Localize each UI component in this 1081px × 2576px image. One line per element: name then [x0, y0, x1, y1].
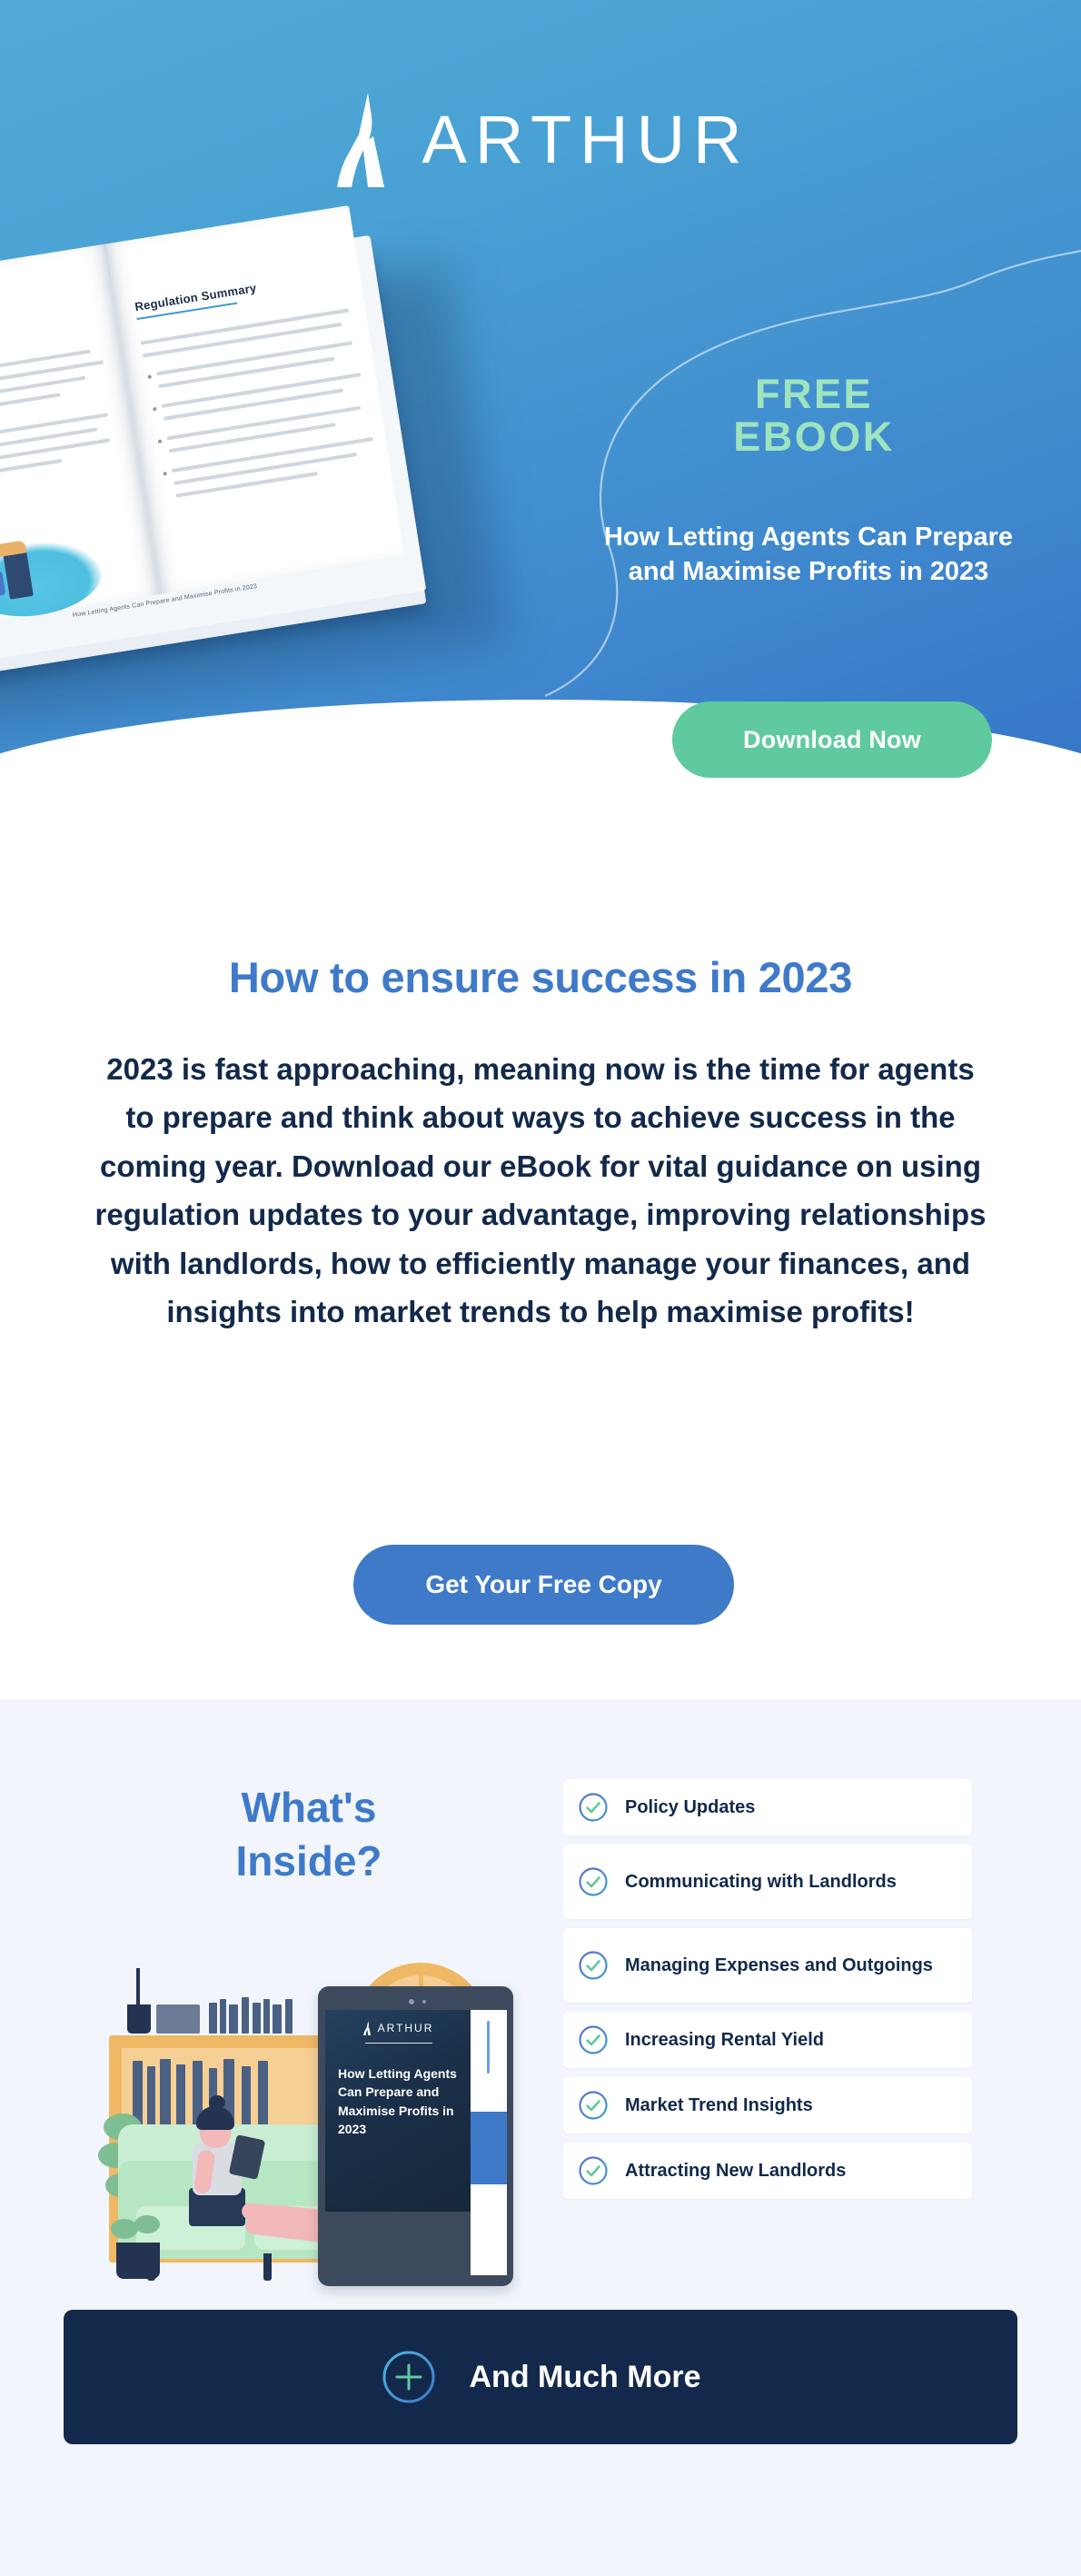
list-item-label: Market Trend Insights [625, 2093, 813, 2119]
get-your-free-copy-button[interactable]: Get Your Free Copy [353, 1545, 734, 1625]
whats-inside-section: What's Inside? [0, 1699, 1081, 2576]
list-item-label: Attracting New Landlords [625, 2158, 846, 2184]
ebook-photo: Policy Updates Regulation Summary [0, 186, 539, 713]
plus-circle-icon [381, 2349, 437, 2405]
reading-illustration: ARTHUR How Letting Agents Can Prepare an… [109, 1954, 536, 2308]
check-circle-icon [578, 1950, 609, 1981]
list-item[interactable]: Managing Expenses and Outgoings [563, 1928, 972, 2003]
brand-name: ARTHUR [422, 106, 750, 174]
hero-section: Policy Updates Regulation Summary [0, 0, 1081, 872]
and-much-more-bar[interactable]: And Much More [64, 2310, 1017, 2444]
hero-kicker: FREE EBOOK [605, 373, 1023, 459]
decorative-squiggle [545, 245, 1081, 718]
intro-paragraph: 2023 is fast approaching, meaning now is… [91, 1045, 990, 1337]
tablet-screen: ARTHUR How Letting Agents Can Prepare an… [325, 2010, 471, 2212]
page-title: How to ensure success in 2023 [0, 952, 1081, 1002]
check-circle-icon [578, 2090, 609, 2121]
and-much-more-label: And Much More [470, 2360, 701, 2395]
whats-inside-title-line1: What's [145, 1781, 472, 1835]
arthur-logo-icon [362, 2021, 373, 2035]
check-circle-icon [578, 1792, 609, 1823]
landing-page: Policy Updates Regulation Summary [0, 0, 1081, 2576]
tablet-cover-title: How Letting Agents Can Prepare and Maxim… [338, 2064, 465, 2138]
hero-kicker-line2: EBOOK [605, 415, 1023, 458]
list-item-label: Managing Expenses and Outgoings [625, 1953, 933, 1979]
tablet-brand-name: ARTHUR [378, 2022, 434, 2034]
arthur-logo-icon [332, 93, 401, 187]
check-circle-icon [578, 2024, 609, 2055]
list-item[interactable]: Communicating with Landlords [563, 1845, 972, 1919]
whats-inside-title-line2: Inside? [145, 1835, 472, 1888]
tablet-brand-logo: ARTHUR [325, 2021, 471, 2035]
list-item[interactable]: Attracting New Landlords [563, 2143, 972, 2199]
list-item-label: Communicating with Landlords [625, 1869, 897, 1895]
brand-logo: ARTHUR [0, 93, 1081, 187]
list-item-label: Policy Updates [625, 1795, 755, 1821]
download-now-button[interactable]: Download Now [672, 701, 992, 778]
list-item[interactable]: Increasing Rental Yield [563, 2012, 972, 2068]
whats-inside-title: What's Inside? [145, 1781, 472, 1888]
list-item-label: Increasing Rental Yield [625, 2027, 824, 2054]
check-circle-icon [578, 1866, 609, 1897]
list-item[interactable]: Policy Updates [563, 1779, 972, 1835]
list-item[interactable]: Market Trend Insights [563, 2077, 972, 2133]
hero-subtitle: How Letting Agents Can Prepare and Maxim… [590, 520, 1026, 590]
hero-kicker-line1: FREE [605, 373, 1023, 415]
check-circle-icon [578, 2155, 609, 2186]
inside-items-list: Policy Updates Communicating with Landlo… [563, 1779, 972, 2208]
